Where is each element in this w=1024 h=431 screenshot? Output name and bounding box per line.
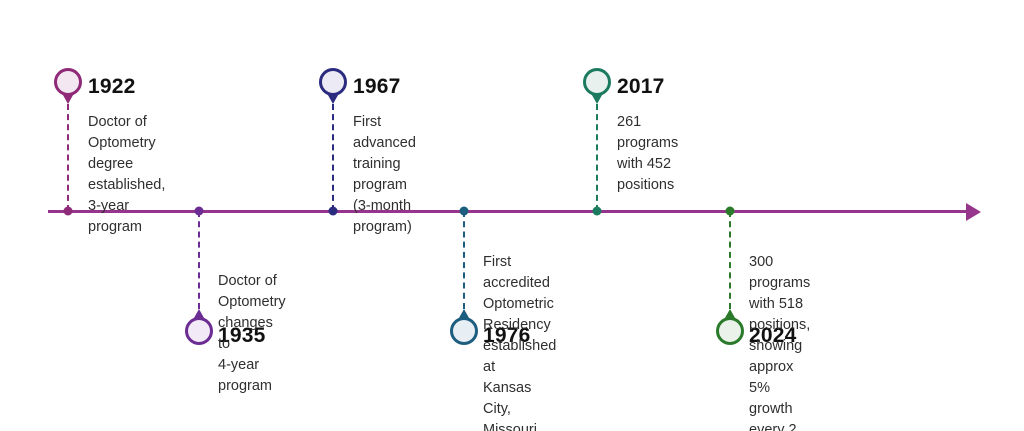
event-description: First advanced training program (3-month… bbox=[353, 112, 416, 238]
map-pin-icon[interactable] bbox=[54, 68, 82, 96]
timeline-axis-line bbox=[48, 210, 976, 213]
map-pin-bulb bbox=[719, 320, 741, 342]
event-description: First accredited Optometric Residency es… bbox=[483, 252, 556, 431]
map-pin-icon[interactable] bbox=[583, 68, 611, 96]
map-pin-icon[interactable] bbox=[185, 317, 213, 345]
timeline-infographic: 1922Doctor of Optometry degree establish… bbox=[0, 0, 1024, 431]
event-description: 300 programs with 518 positions, showing… bbox=[749, 252, 810, 431]
map-pin-bulb bbox=[57, 71, 79, 93]
map-pin-bulb bbox=[586, 71, 608, 93]
timeline-arrow-icon bbox=[966, 203, 981, 221]
connector-line bbox=[198, 211, 200, 309]
map-pin-icon[interactable] bbox=[716, 317, 744, 345]
map-pin-icon[interactable] bbox=[319, 68, 347, 96]
event-year-label: 2017 bbox=[617, 75, 665, 99]
event-year-label: 1922 bbox=[88, 75, 136, 99]
connector-line bbox=[729, 211, 731, 309]
event-description: Doctor of Optometry changes to 4-year pr… bbox=[218, 271, 286, 397]
event-description: Doctor of Optometry degree established, … bbox=[88, 112, 165, 238]
map-pin-icon[interactable] bbox=[450, 317, 478, 345]
connector-line bbox=[67, 104, 69, 211]
map-pin-bulb bbox=[322, 71, 344, 93]
event-description: 261 programs with 452 positions bbox=[617, 112, 678, 196]
connector-line bbox=[596, 104, 598, 211]
event-year-label: 1967 bbox=[353, 75, 401, 99]
connector-line bbox=[463, 211, 465, 309]
connector-line bbox=[332, 104, 334, 211]
map-pin-bulb bbox=[188, 320, 210, 342]
map-pin-bulb bbox=[453, 320, 475, 342]
